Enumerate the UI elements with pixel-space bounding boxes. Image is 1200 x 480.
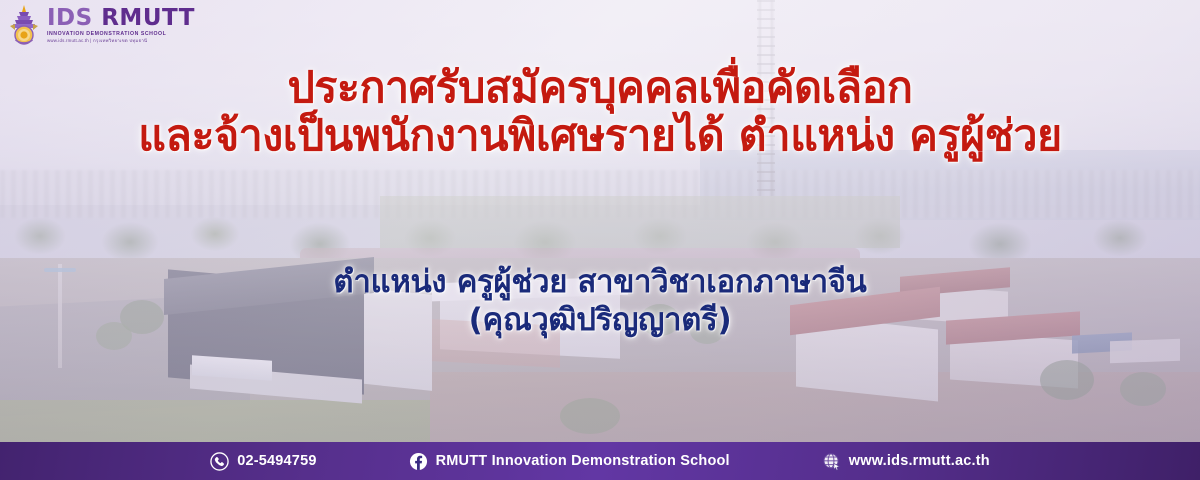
rmutt-crest-emblem bbox=[6, 4, 42, 46]
contact-facebook-label: RMUTT Innovation Demonstration School bbox=[436, 453, 730, 469]
contact-footer-bar: 02-5494759 RMUTT Innovation Demonstratio… bbox=[0, 442, 1200, 480]
globe-icon bbox=[822, 452, 841, 471]
contact-website[interactable]: www.ids.rmutt.ac.th bbox=[822, 452, 990, 471]
facebook-icon bbox=[409, 452, 428, 471]
logo-title-rmutt: RMUTT bbox=[93, 5, 195, 31]
contact-phone[interactable]: 02-5494759 bbox=[210, 452, 316, 471]
subheading-line-1: ตำแหน่ง ครูผู้ช่วย สาขาวิชาเอกภาษาจีน bbox=[0, 264, 1200, 302]
headline-block: ประกาศรับสมัครบุคคลเพื่อคัดเลือก และจ้าง… bbox=[0, 64, 1200, 160]
contact-phone-label: 02-5494759 bbox=[237, 453, 316, 469]
ids-rmutt-logo: IDS RMUTT INNOVATION DEMONSTRATION SCHOO… bbox=[6, 4, 195, 46]
subheading-line-2: (คุณวุฒิปริญญาตรี) bbox=[0, 302, 1200, 340]
recruitment-banner: IDS RMUTT INNOVATION DEMONSTRATION SCHOO… bbox=[0, 0, 1200, 480]
logo-text-block: IDS RMUTT INNOVATION DEMONSTRATION SCHOO… bbox=[47, 7, 195, 44]
contact-website-label: www.ids.rmutt.ac.th bbox=[849, 453, 990, 469]
logo-title: IDS RMUTT bbox=[47, 7, 195, 30]
headline-line-2: และจ้างเป็นพนักงานพิเศษรายได้ ตำแหน่ง คร… bbox=[0, 112, 1200, 160]
subheading-block: ตำแหน่ง ครูผู้ช่วย สาขาวิชาเอกภาษาจีน (ค… bbox=[0, 264, 1200, 340]
phone-icon bbox=[210, 452, 229, 471]
contact-facebook[interactable]: RMUTT Innovation Demonstration School bbox=[409, 452, 730, 471]
logo-subtitle: INNOVATION DEMONSTRATION SCHOOL bbox=[47, 32, 195, 37]
logo-title-ids: IDS bbox=[47, 5, 93, 31]
logo-url-line: www.ids.rmutt.ac.th | กรุงเทพวิทยาเขต ปท… bbox=[47, 39, 195, 43]
headline-line-1: ประกาศรับสมัครบุคคลเพื่อคัดเลือก bbox=[0, 64, 1200, 112]
